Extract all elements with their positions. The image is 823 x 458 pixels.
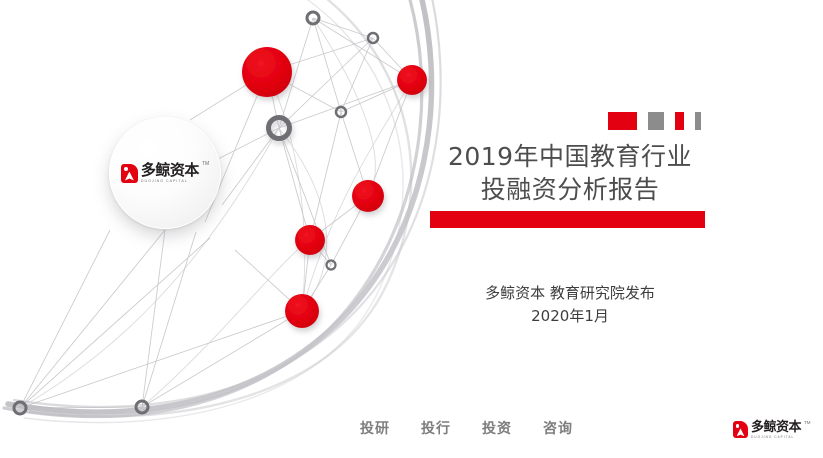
page-title: 2019年中国教育行业 投融资分析报告 xyxy=(425,140,715,206)
whale-mark-icon xyxy=(733,421,748,438)
footer-logo-tm: TM xyxy=(804,420,811,425)
sphere-arcs xyxy=(4,0,441,423)
title-slide: 多鲸资本 DUOJING CAPITAL TM 2019年中国教育行业 投融资分… xyxy=(0,0,823,458)
footer-logo-en: DUOJING CAPITAL xyxy=(751,436,801,439)
nav-item-touzi[interactable]: 投资 xyxy=(482,418,512,438)
badge-logo-words: 多鲸资本 DUOJING CAPITAL xyxy=(141,163,199,184)
logo-badge: 多鲸资本 DUOJING CAPITAL TM xyxy=(109,117,221,229)
badge-logo-en: DUOJING CAPITAL xyxy=(141,180,199,184)
network-red-nodes xyxy=(242,47,427,328)
subtitle: 多鲸资本 教育研究院发布 2020年1月 xyxy=(425,282,715,329)
decor-dash-4 xyxy=(695,112,701,130)
footer-logo-lockup: 多鲸资本 DUOJING CAPITAL TM xyxy=(733,421,811,439)
footer-logo: 多鲸资本 DUOJING CAPITAL TM xyxy=(733,421,811,439)
badge-logo-tm: TM xyxy=(202,161,209,167)
decor-dash-1 xyxy=(608,112,637,130)
badge-logo-cn: 多鲸资本 xyxy=(141,163,199,178)
title-underline-bar xyxy=(430,211,705,228)
nav-item-touxing[interactable]: 投行 xyxy=(421,418,451,438)
badge-logo-lockup: 多鲸资本 DUOJING CAPITAL TM xyxy=(121,163,209,184)
network-graphic xyxy=(0,0,460,458)
nav-item-zixun[interactable]: 咨询 xyxy=(543,418,573,438)
network-links xyxy=(20,18,412,408)
whale-mark-icon xyxy=(121,164,138,183)
subtitle-publisher: 多鲸资本 教育研究院发布 xyxy=(425,282,715,305)
title-line-1: 2019年中国教育行业 xyxy=(425,140,715,173)
decor-dash-3 xyxy=(675,112,684,130)
title-line-2: 投融资分析报告 xyxy=(425,173,715,206)
network-curves xyxy=(20,18,412,408)
nav-item-touyan[interactable]: 投研 xyxy=(360,418,390,438)
subtitle-date: 2020年1月 xyxy=(425,305,715,328)
footer-logo-cn: 多鲸资本 xyxy=(751,421,801,434)
bottom-nav: 投研 投行 投资 咨询 xyxy=(360,418,573,438)
decor-dashes xyxy=(608,112,701,130)
footer-logo-words: 多鲸资本 DUOJING CAPITAL xyxy=(751,421,801,439)
decor-dash-2 xyxy=(648,112,664,130)
